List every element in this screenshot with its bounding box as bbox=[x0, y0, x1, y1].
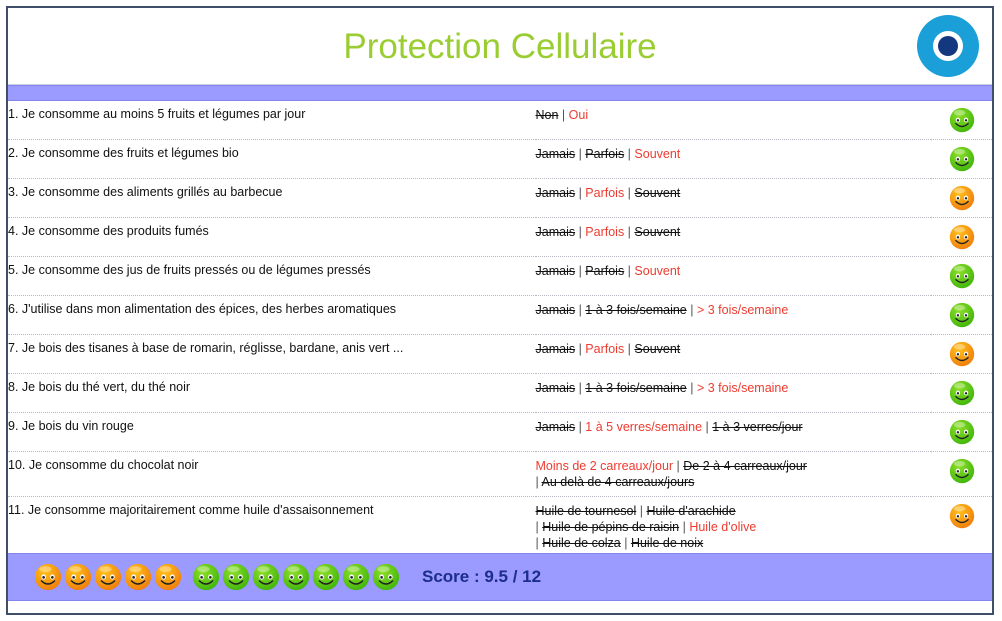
answer-option-line: Jamais | 1 à 3 fois/semaine | > 3 fois/s… bbox=[536, 380, 932, 396]
option-unselected[interactable]: Souvent bbox=[634, 342, 680, 356]
option-separator: | bbox=[636, 504, 646, 518]
answer-options[interactable]: Jamais | Parfois | Souvent bbox=[536, 179, 932, 218]
option-unselected[interactable]: Parfois bbox=[585, 147, 624, 161]
option-separator: | bbox=[702, 420, 712, 434]
option-unselected[interactable]: Huile de pépins de raisin bbox=[542, 520, 679, 534]
answer-option-line: Jamais | Parfois | Souvent bbox=[536, 341, 932, 357]
option-separator: | bbox=[558, 108, 568, 122]
score-smiley-green-icon bbox=[252, 563, 282, 591]
score-footer: Score : 9.5 / 12 bbox=[8, 553, 992, 601]
option-unselected[interactable]: Huile de noix bbox=[631, 536, 703, 550]
option-unselected[interactable]: 1 à 3 fois/semaine bbox=[585, 303, 686, 317]
option-unselected[interactable]: Parfois bbox=[585, 264, 624, 278]
answer-options[interactable]: Jamais | Parfois | Souvent bbox=[536, 335, 932, 374]
score-smiley-orange-icon bbox=[34, 563, 64, 591]
answer-options[interactable]: Non | Oui bbox=[536, 101, 932, 140]
answer-options[interactable]: Jamais | 1 à 5 verres/semaine | 1 à 3 ve… bbox=[536, 413, 932, 452]
top-purple-band bbox=[8, 85, 992, 101]
option-separator: | bbox=[624, 342, 634, 356]
answer-option-line: Non | Oui bbox=[536, 107, 932, 123]
row-smiley-orange-icon bbox=[931, 335, 992, 374]
row-smiley-green-icon bbox=[931, 374, 992, 413]
answer-options[interactable]: Jamais | Parfois | Souvent bbox=[536, 140, 932, 179]
option-selected[interactable]: Parfois bbox=[585, 342, 624, 356]
option-separator: | bbox=[575, 147, 585, 161]
option-selected[interactable]: Souvent bbox=[634, 264, 680, 278]
question-text: 1. Je consomme au moins 5 fruits et légu… bbox=[8, 101, 536, 140]
table-row: 9. Je bois du vin rougeJamais | 1 à 5 ve… bbox=[8, 413, 992, 452]
score-text: Score : 9.5 / 12 bbox=[422, 567, 541, 587]
table-row: 7. Je bois des tisanes à base de romarin… bbox=[8, 335, 992, 374]
question-text: 6. J'utilise dans mon alimentation des é… bbox=[8, 296, 536, 335]
answer-option-line: Jamais | Parfois | Souvent bbox=[536, 224, 932, 240]
option-separator: | bbox=[624, 264, 634, 278]
questions-container: 1. Je consomme au moins 5 fruits et légu… bbox=[8, 101, 992, 553]
score-smiley-orange-icon bbox=[94, 563, 124, 591]
score-smiley-green-icon bbox=[222, 563, 252, 591]
option-separator: | bbox=[624, 225, 634, 239]
question-text: 7. Je bois des tisanes à base de romarin… bbox=[8, 335, 536, 374]
score-smiley-orange-icon bbox=[64, 563, 94, 591]
answer-option-line: | Huile de pépins de raisin | Huile d'ol… bbox=[536, 519, 932, 535]
option-unselected[interactable]: 1 à 3 verres/jour bbox=[712, 420, 802, 434]
row-smiley-green-icon bbox=[931, 296, 992, 335]
footer-spacer bbox=[8, 601, 992, 613]
option-selected[interactable]: Parfois bbox=[585, 225, 624, 239]
option-unselected[interactable]: Huile d'arachide bbox=[646, 504, 735, 518]
row-smiley-orange-icon bbox=[931, 497, 992, 554]
option-separator: | bbox=[673, 459, 683, 473]
question-text: 3. Je consomme des aliments grillés au b… bbox=[8, 179, 536, 218]
score-smiley-green-icon bbox=[372, 563, 402, 591]
option-selected[interactable]: Souvent bbox=[634, 147, 680, 161]
table-row: 2. Je consomme des fruits et légumes bio… bbox=[8, 140, 992, 179]
answer-options[interactable]: Moins de 2 carreaux/jour | De 2 à 4 carr… bbox=[536, 452, 932, 497]
answer-option-line: Jamais | 1 à 5 verres/semaine | 1 à 3 ve… bbox=[536, 419, 932, 435]
option-separator: | bbox=[575, 264, 585, 278]
question-text: 5. Je consomme des jus de fruits pressés… bbox=[8, 257, 536, 296]
option-unselected[interactable]: Jamais bbox=[536, 264, 576, 278]
option-selected[interactable]: 1 à 5 verres/semaine bbox=[585, 420, 702, 434]
answer-option-line: Jamais | Parfois | Souvent bbox=[536, 263, 932, 279]
row-smiley-green-icon bbox=[931, 413, 992, 452]
option-unselected[interactable]: Jamais bbox=[536, 186, 576, 200]
question-text: 8. Je bois du thé vert, du thé noir bbox=[8, 374, 536, 413]
answer-options[interactable]: Jamais | Parfois | Souvent bbox=[536, 218, 932, 257]
row-smiley-orange-icon bbox=[931, 179, 992, 218]
answer-option-line: | Huile de colza | Huile de noix bbox=[536, 535, 932, 551]
table-row: 6. J'utilise dans mon alimentation des é… bbox=[8, 296, 992, 335]
answer-option-line: Jamais | 1 à 3 fois/semaine | > 3 fois/s… bbox=[536, 302, 932, 318]
quiz-page: Protection Cellulaire 1. Je consomme au … bbox=[0, 0, 1002, 621]
option-selected[interactable]: Moins de 2 carreaux/jour bbox=[536, 459, 674, 473]
option-separator: | bbox=[575, 381, 585, 395]
option-separator: | bbox=[575, 420, 585, 434]
question-text: 11. Je consomme majoritairement comme hu… bbox=[8, 497, 536, 554]
question-text: 2. Je consomme des fruits et légumes bio bbox=[8, 140, 536, 179]
option-selected[interactable]: Huile d'olive bbox=[689, 520, 756, 534]
questions-table: 1. Je consomme au moins 5 fruits et légu… bbox=[8, 101, 992, 553]
option-unselected[interactable]: Non bbox=[536, 108, 559, 122]
question-text: 4. Je consomme des produits fumés bbox=[8, 218, 536, 257]
option-selected[interactable]: Parfois bbox=[585, 186, 624, 200]
option-separator: | bbox=[624, 147, 634, 161]
question-text: 9. Je bois du vin rouge bbox=[8, 413, 536, 452]
option-separator: | bbox=[575, 342, 585, 356]
option-selected[interactable]: > 3 fois/semaine bbox=[697, 303, 788, 317]
answer-option-line: Moins de 2 carreaux/jour | De 2 à 4 carr… bbox=[536, 458, 932, 474]
option-unselected[interactable]: Huile de colza bbox=[542, 536, 621, 550]
option-separator: | bbox=[687, 303, 697, 317]
answer-option-line: Jamais | Parfois | Souvent bbox=[536, 185, 932, 201]
option-unselected[interactable]: Jamais bbox=[536, 381, 576, 395]
option-separator: | bbox=[575, 186, 585, 200]
option-unselected[interactable]: Souvent bbox=[634, 186, 680, 200]
score-smiley-green-icon bbox=[312, 563, 342, 591]
answer-option-line: Huile de tournesol | Huile d'arachide bbox=[536, 503, 932, 519]
option-separator: | bbox=[624, 186, 634, 200]
option-unselected[interactable]: 1 à 3 fois/semaine bbox=[585, 381, 686, 395]
answer-options[interactable]: Jamais | 1 à 3 fois/semaine | > 3 fois/s… bbox=[536, 374, 932, 413]
score-smiley-orange-icon bbox=[154, 563, 184, 591]
option-unselected[interactable]: Jamais bbox=[536, 420, 576, 434]
option-unselected[interactable]: De 2 à 4 carreaux/jour bbox=[683, 459, 807, 473]
table-row: 8. Je bois du thé vert, du thé noirJamai… bbox=[8, 374, 992, 413]
page-header: Protection Cellulaire bbox=[8, 8, 992, 85]
option-unselected[interactable]: Jamais bbox=[536, 147, 576, 161]
answer-option-line: Jamais | Parfois | Souvent bbox=[536, 146, 932, 162]
answer-options[interactable]: Jamais | Parfois | Souvent bbox=[536, 257, 932, 296]
row-smiley-green-icon bbox=[931, 452, 992, 497]
page-title: Protection Cellulaire bbox=[343, 29, 656, 64]
score-smiley-green-icon bbox=[282, 563, 312, 591]
option-selected[interactable]: Oui bbox=[569, 108, 588, 122]
option-separator: | bbox=[621, 536, 631, 550]
score-smiley-green-icon bbox=[342, 563, 372, 591]
option-separator: | bbox=[687, 381, 697, 395]
table-row: 10. Je consomme du chocolat noirMoins de… bbox=[8, 452, 992, 497]
option-separator: | bbox=[575, 225, 585, 239]
option-unselected[interactable]: Jamais bbox=[536, 342, 576, 356]
option-unselected[interactable]: Souvent bbox=[634, 225, 680, 239]
question-text: 10. Je consomme du chocolat noir bbox=[8, 452, 536, 497]
table-row: 11. Je consomme majoritairement comme hu… bbox=[8, 497, 992, 554]
row-smiley-green-icon bbox=[931, 140, 992, 179]
table-row: 4. Je consomme des produits fumésJamais … bbox=[8, 218, 992, 257]
table-row: 5. Je consomme des jus de fruits pressés… bbox=[8, 257, 992, 296]
row-smiley-green-icon bbox=[931, 101, 992, 140]
option-unselected[interactable]: Jamais bbox=[536, 225, 576, 239]
table-row: 3. Je consomme des aliments grillés au b… bbox=[8, 179, 992, 218]
option-unselected[interactable]: Jamais bbox=[536, 303, 576, 317]
row-smiley-green-icon bbox=[931, 257, 992, 296]
option-unselected[interactable]: Au delà de 4 carreaux/jours bbox=[542, 475, 695, 489]
option-separator: | bbox=[679, 520, 689, 534]
row-smiley-orange-icon bbox=[931, 218, 992, 257]
option-unselected[interactable]: Huile de tournesol bbox=[536, 504, 637, 518]
score-smiley-row bbox=[34, 563, 402, 591]
answer-options[interactable]: Huile de tournesol | Huile d'arachide| H… bbox=[536, 497, 932, 554]
score-smiley-green-icon bbox=[192, 563, 222, 591]
answer-options[interactable]: Jamais | 1 à 3 fois/semaine | > 3 fois/s… bbox=[536, 296, 932, 335]
option-selected[interactable]: > 3 fois/semaine bbox=[697, 381, 788, 395]
blue-target-logo-icon bbox=[916, 14, 980, 78]
table-row: 1. Je consomme au moins 5 fruits et légu… bbox=[8, 101, 992, 140]
quiz-frame: Protection Cellulaire 1. Je consomme au … bbox=[6, 6, 994, 615]
answer-option-line: | Au delà de 4 carreaux/jours bbox=[536, 474, 932, 490]
option-separator: | bbox=[575, 303, 585, 317]
score-smiley-orange-icon bbox=[124, 563, 154, 591]
